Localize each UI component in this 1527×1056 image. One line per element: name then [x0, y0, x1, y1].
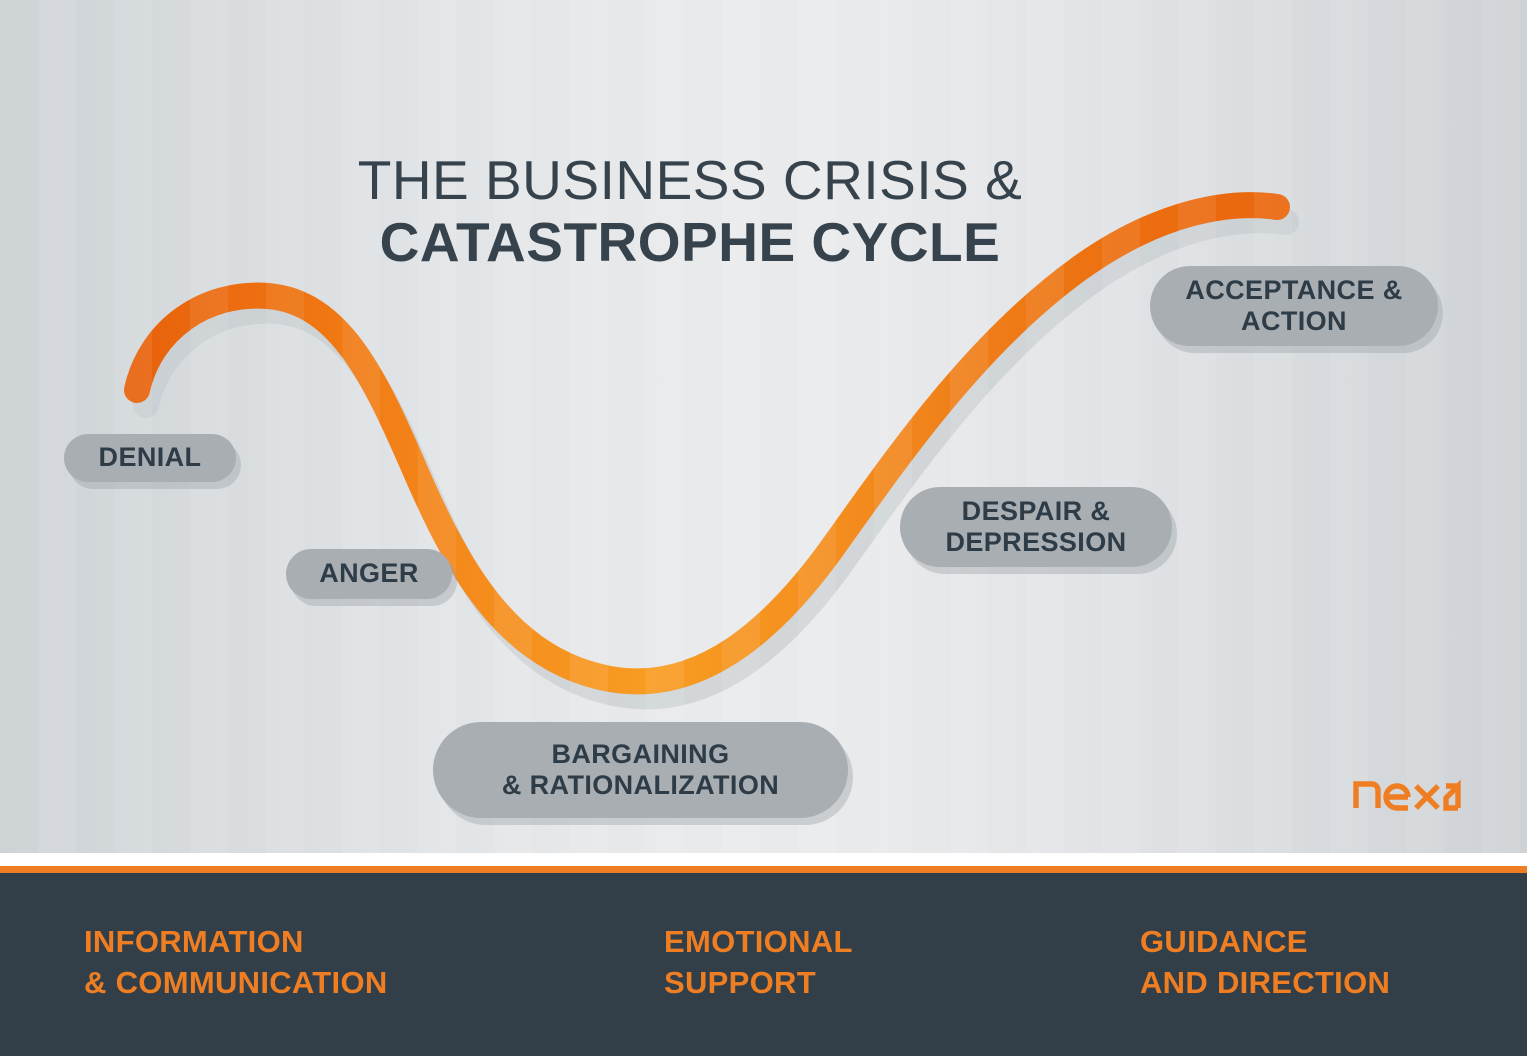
stage-label-bargaining[interactable]: BARGAINING & RATIONALIZATION — [433, 722, 848, 818]
diagram-stage: THE BUSINESS CRISIS & CATASTROPHE CYCLE … — [0, 0, 1527, 853]
orange-rule — [0, 866, 1527, 873]
stage-label-anger[interactable]: ANGER — [286, 549, 452, 599]
infographic-canvas: THE BUSINESS CRISIS & CATASTROPHE CYCLE … — [0, 0, 1527, 1056]
stage-label-despair[interactable]: DESPAIR & DEPRESSION — [900, 487, 1172, 567]
footer-item-information: INFORMATION & COMMUNICATION — [84, 922, 388, 1004]
footer-item-guidance: GUIDANCE AND DIRECTION — [1140, 922, 1390, 1004]
curve-shadow — [146, 220, 1286, 696]
page-title: THE BUSINESS CRISIS & CATASTROPHE CYCLE — [330, 152, 1050, 270]
stage-label-denial[interactable]: DENIAL — [64, 434, 236, 482]
footer-item-emotional-support: EMOTIONAL SUPPORT — [664, 922, 853, 1004]
title-line-2: CATASTROPHE CYCLE — [330, 214, 1050, 270]
nexa-logo — [1352, 770, 1462, 817]
stage-label-acceptance[interactable]: ACCEPTANCE & ACTION — [1150, 266, 1438, 346]
footer-bar: INFORMATION & COMMUNICATION EMOTIONAL SU… — [0, 873, 1527, 1056]
title-line-1: THE BUSINESS CRISIS & — [330, 152, 1050, 208]
white-separator — [0, 853, 1527, 866]
nexa-logo-mark — [1352, 770, 1462, 812]
